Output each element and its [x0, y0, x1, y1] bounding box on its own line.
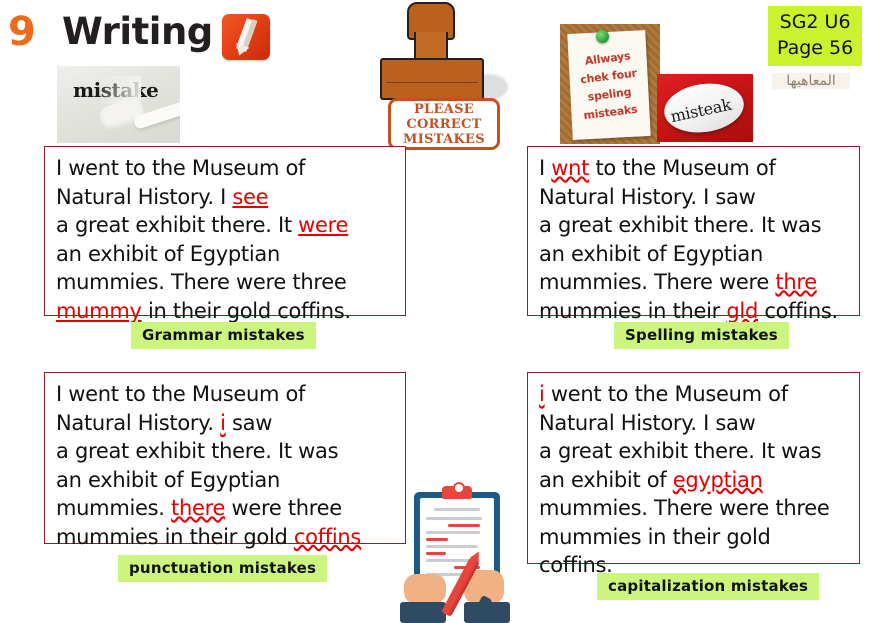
- worksheet-page: 9 Writing mistake PLEASE CORRECT MISTAKE…: [0, 0, 872, 623]
- text-line: mummies. There were thre: [539, 268, 849, 297]
- text-segment: a great exhibit there. It was: [56, 439, 338, 463]
- text-segment: I: [539, 156, 551, 180]
- stamp-line-3: MISTAKES: [403, 132, 485, 147]
- unit-line: SG2 U6: [777, 9, 853, 35]
- text-segment: Natural History.: [56, 411, 220, 435]
- text-line: a great exhibit there. It were: [56, 211, 395, 240]
- text-box-spelling: I wnt to the Museum ofNatural History. I…: [527, 146, 860, 316]
- pushpin-icon: [596, 30, 609, 43]
- text-line: an exhibit of Egyptian: [56, 240, 395, 269]
- text-segment: an exhibit of Egyptian: [56, 468, 280, 492]
- text-line: i went to the Museum of: [539, 380, 849, 409]
- error-word: egyptian: [673, 468, 763, 492]
- label-grammar-mistakes: Grammar mistakes: [131, 322, 316, 349]
- text-segment: mummies. There were three: [56, 270, 346, 294]
- text-line: a great exhibit there. It was: [56, 437, 395, 466]
- stamp-text-box: PLEASE CORRECT MISTAKES: [388, 98, 500, 150]
- misteak-eraser-photo: misteak: [657, 74, 753, 142]
- text-segment: mummies. There were three: [539, 496, 829, 520]
- text-segment: an exhibit of Egyptian: [539, 242, 763, 266]
- text-segment: mummies in their gold: [56, 525, 294, 549]
- text-line: mummies in their gold: [539, 523, 849, 552]
- page-number: 9: [8, 10, 36, 54]
- text-segment: Natural History. I saw: [539, 411, 755, 435]
- text-line: I went to the Museum of: [56, 154, 395, 183]
- text-line: an exhibit of egyptian: [539, 466, 849, 495]
- text-line: I wnt to the Museum of: [539, 154, 849, 183]
- stamp-line-1: PLEASE: [414, 102, 474, 117]
- text-line: mummy in their gold coffins.: [56, 297, 395, 326]
- page-line: Page 56: [777, 35, 853, 61]
- page-title: Writing: [62, 10, 213, 54]
- text-line: an exhibit of Egyptian: [56, 466, 395, 495]
- text-segment: in their gold coffins.: [142, 299, 351, 323]
- corkboard-note-photo: Allways chek four speling misteaks: [560, 24, 660, 144]
- text-segment: went to the Museum of: [545, 382, 788, 406]
- text-line: mummies. there were three: [56, 494, 395, 523]
- text-segment: mummies.: [56, 496, 171, 520]
- text-segment: saw: [226, 411, 272, 435]
- text-segment: a great exhibit there. It was: [539, 439, 821, 463]
- clipboard-clip-icon: [442, 486, 472, 499]
- error-word: coffins: [294, 525, 361, 549]
- text-line: mummies in their gold coffins: [56, 523, 395, 552]
- sticky-note: Allways chek four speling misteaks: [567, 30, 650, 140]
- text-box-grammar: I went to the Museum ofNatural History. …: [44, 146, 406, 316]
- rubber-stamp-graphic: PLEASE CORRECT MISTAKES: [352, 2, 517, 152]
- text-line: mummies. There were three: [56, 268, 395, 297]
- text-line: Natural History. I saw: [539, 183, 849, 212]
- unit-page-badge: SG2 U6 Page 56: [768, 6, 862, 66]
- text-segment: coffins.: [758, 299, 838, 323]
- label-capitalization-mistakes: capitalization mistakes: [597, 573, 819, 600]
- text-line: Natural History. I see: [56, 183, 395, 212]
- text-segment: mummies. There were: [539, 270, 775, 294]
- text-line: an exhibit of Egyptian: [539, 240, 849, 269]
- text-line: I went to the Museum of: [56, 380, 395, 409]
- text-segment: an exhibit of: [539, 468, 673, 492]
- error-word: thre: [775, 270, 816, 294]
- text-segment: a great exhibit there. It was: [539, 213, 821, 237]
- text-line: a great exhibit there. It was: [539, 211, 849, 240]
- error-word: mummy: [56, 299, 142, 323]
- error-word: there: [171, 496, 225, 520]
- text-segment: mummies in their: [539, 299, 726, 323]
- text-line: Natural History. I saw: [539, 409, 849, 438]
- text-box-punctuation: I went to the Museum ofNatural History. …: [44, 372, 406, 544]
- text-segment: Natural History. I: [56, 185, 232, 209]
- label-spelling-mistakes: Spelling mistakes: [614, 322, 789, 349]
- pencil-icon: [222, 14, 270, 60]
- text-box-capitalization: i went to the Museum ofNatural History. …: [527, 372, 860, 564]
- text-segment: a great exhibit there. It: [56, 213, 298, 237]
- text-line: Natural History. i saw: [56, 409, 395, 438]
- text-segment: I went to the Museum of: [56, 156, 305, 180]
- error-word: wnt: [551, 156, 589, 180]
- arabic-note: المعاهيها: [772, 73, 850, 89]
- mistake-eraser-photo: mistake: [57, 66, 180, 143]
- text-line: mummies in their gld coffins.: [539, 297, 849, 326]
- text-segment: an exhibit of Egyptian: [56, 242, 280, 266]
- label-punctuation-mistakes: punctuation mistakes: [118, 555, 327, 582]
- proofreading-illustration: [398, 478, 520, 623]
- error-word: were: [298, 213, 348, 237]
- stamp-line-2: CORRECT: [406, 117, 481, 132]
- text-segment: were three: [225, 496, 342, 520]
- text-line: a great exhibit there. It was: [539, 437, 849, 466]
- text-segment: to the Museum of: [589, 156, 775, 180]
- text-segment: Natural History. I saw: [539, 185, 755, 209]
- text-line: mummies. There were three: [539, 494, 849, 523]
- error-word: see: [232, 185, 268, 209]
- text-segment: I went to the Museum of: [56, 382, 305, 406]
- error-word: gld: [726, 299, 758, 323]
- text-segment: mummies in their gold: [539, 525, 771, 549]
